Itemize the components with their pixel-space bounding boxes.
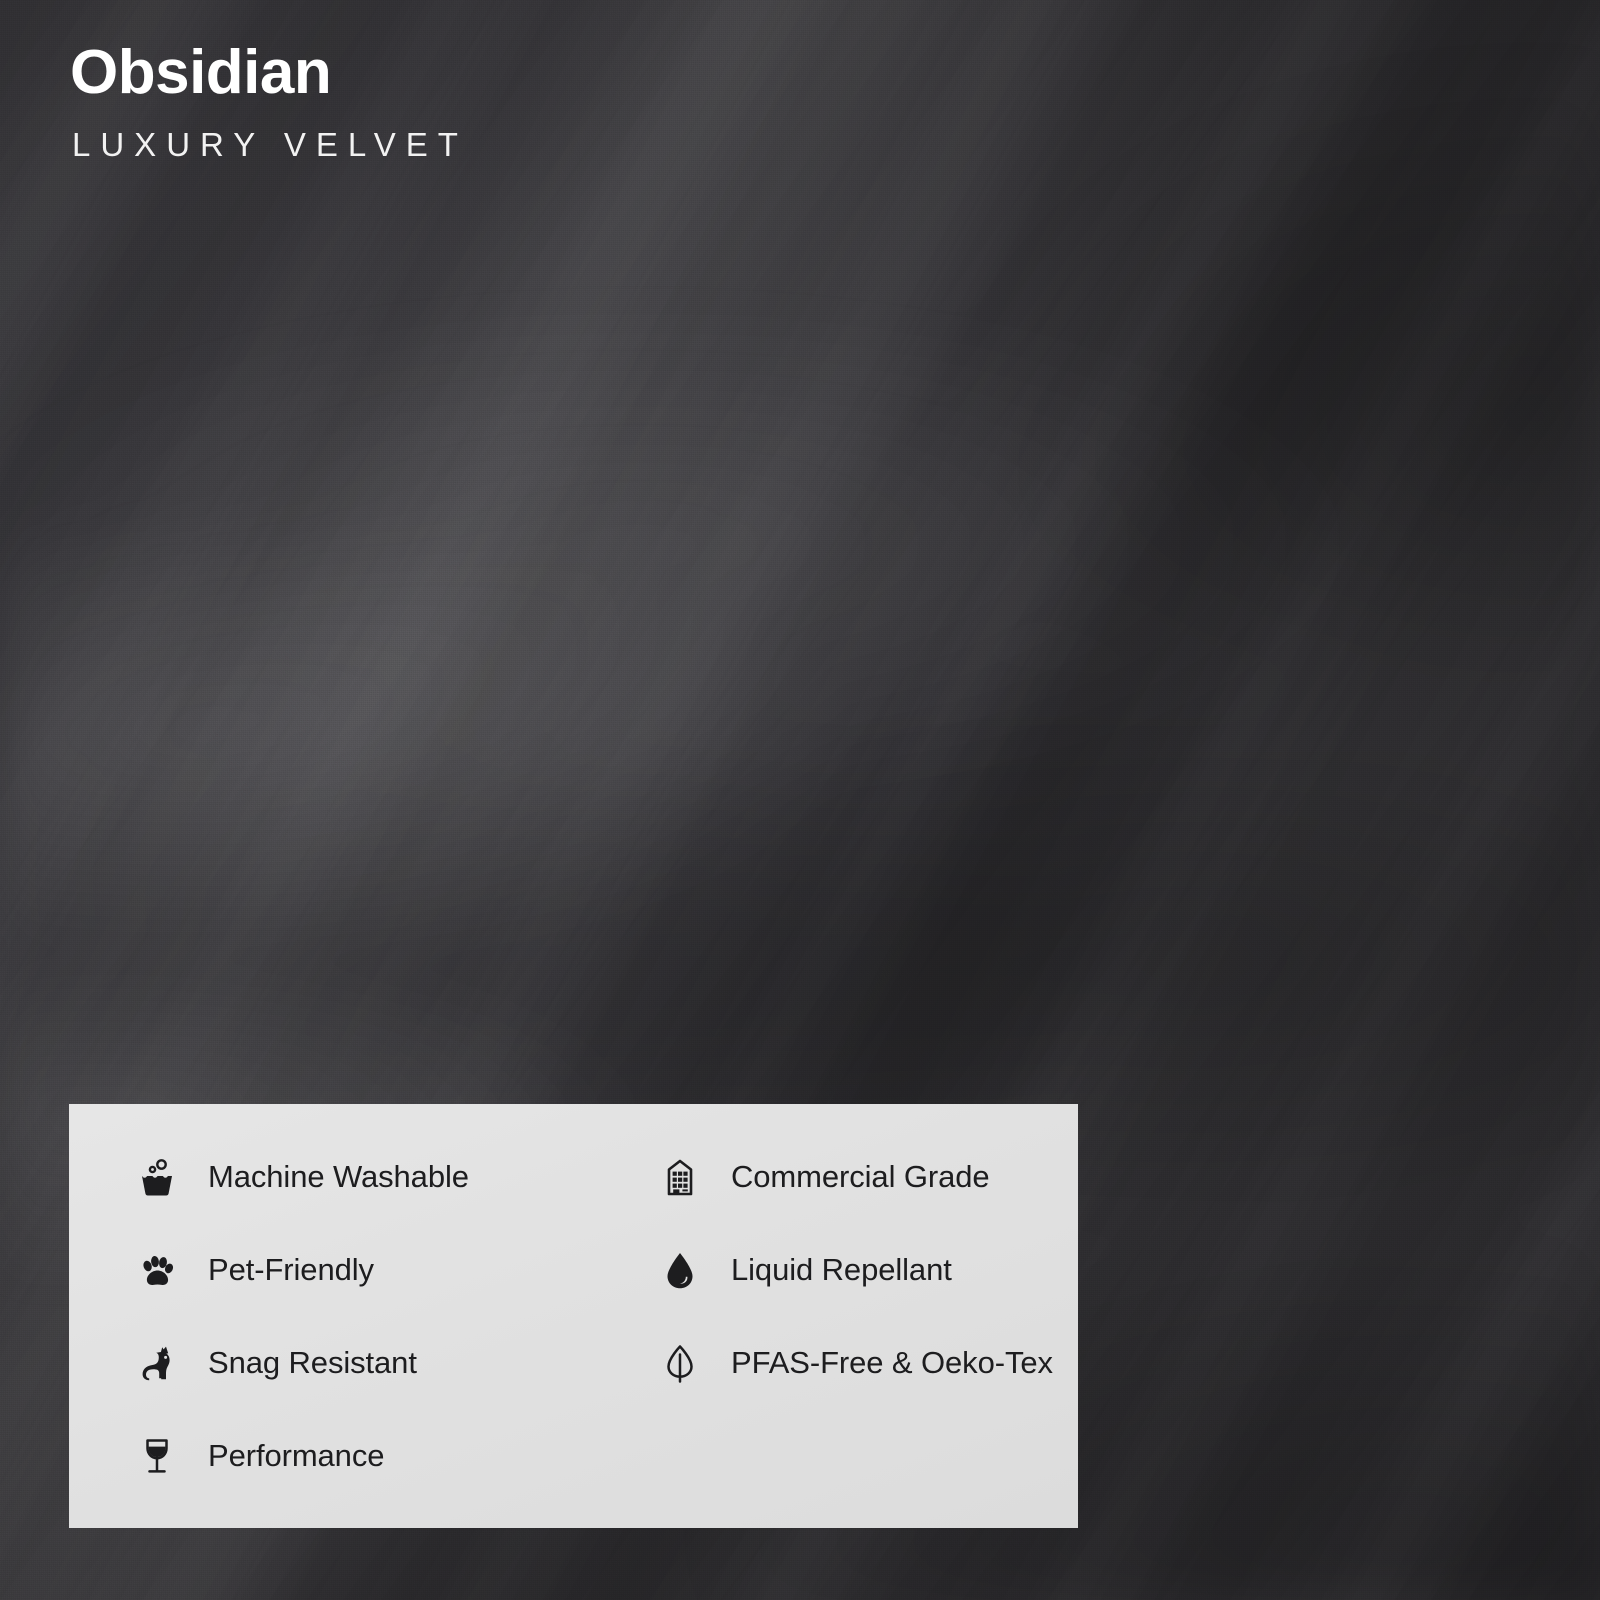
feature-item-pet-friendly: Pet-Friendly xyxy=(69,1223,592,1316)
building-icon xyxy=(657,1154,703,1200)
feature-label: Commercial Grade xyxy=(731,1159,990,1195)
feature-label: Pet-Friendly xyxy=(208,1252,374,1288)
feature-item-snag-resistant: Snag Resistant xyxy=(69,1316,592,1409)
page-title: Obsidian xyxy=(70,42,468,104)
feature-item-machine-washable: Machine Washable xyxy=(69,1130,592,1223)
header: Obsidian LUXURY VELVET xyxy=(70,42,468,161)
leaf-icon xyxy=(657,1340,703,1386)
product-subtitle: LUXURY VELVET xyxy=(72,128,468,161)
feature-label: PFAS-Free & Oeko-Tex xyxy=(731,1345,1053,1381)
feature-item-pfas-free-oeko-tex: PFAS-Free & Oeko-Tex xyxy=(592,1316,1078,1409)
cat-icon xyxy=(134,1340,180,1386)
paw-print-icon xyxy=(134,1247,180,1293)
wash-tub-icon xyxy=(134,1154,180,1200)
feature-label: Snag Resistant xyxy=(208,1345,417,1381)
feature-label: Machine Washable xyxy=(208,1159,469,1195)
fabric-swatch-card: Obsidian LUXURY VELVET Machine Washable xyxy=(0,0,1600,1600)
feature-item-performance: Performance xyxy=(69,1409,592,1502)
feature-label: Performance xyxy=(208,1438,384,1474)
feature-slot-empty xyxy=(592,1409,1078,1502)
feature-item-liquid-repellant: Liquid Repellant xyxy=(592,1223,1078,1316)
feature-label: Liquid Repellant xyxy=(731,1252,952,1288)
wine-glass-icon xyxy=(134,1433,180,1479)
feature-panel: Machine Washable xyxy=(69,1104,1078,1528)
feature-item-commercial-grade: Commercial Grade xyxy=(592,1130,1078,1223)
water-drop-icon xyxy=(657,1247,703,1293)
